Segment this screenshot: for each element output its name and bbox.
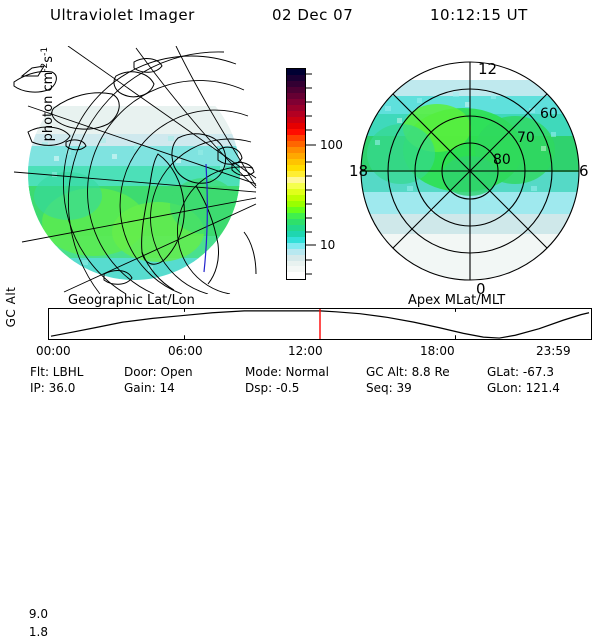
time-axis: 00:00 06:00 12:00 18:00 23:59 [0, 344, 600, 360]
status-ip: IP: 36.0 [30, 381, 75, 395]
mlat-label-80: 80 [493, 152, 511, 168]
apex-panel-caption: Apex MLat/MLT [408, 293, 505, 308]
time-label-1200: 12:00 [288, 344, 323, 358]
mlt-label-6: 6 [579, 162, 589, 180]
status-gc-alt: GC Alt: 8.8 Re [366, 365, 450, 379]
mlt-spokes [361, 62, 579, 280]
colorbar-label-exp2: -1 [40, 47, 50, 56]
altitude-tick-low: 1.8 [29, 625, 48, 639]
mlt-label-18: 18 [349, 162, 368, 180]
colorbar-axis-label: photon cm-2s-1 [40, 6, 56, 182]
colorbar-label-mid: s [41, 56, 56, 63]
time-label-0600: 06:00 [168, 344, 203, 358]
status-mode: Mode: Normal [245, 365, 329, 379]
observation-time: 10:12:15 UT [430, 6, 528, 24]
mlat-label-70: 70 [517, 130, 535, 146]
mlat-label-60: 60 [540, 106, 558, 122]
aurora-emission-geographic [28, 68, 240, 282]
altitude-tick-high: 9.0 [29, 607, 48, 621]
intensity-colorbar[interactable] [286, 68, 306, 280]
status-glat: GLat: -67.3 [487, 365, 554, 379]
status-door: Door: Open [124, 365, 193, 379]
colorbar-label-main: photon cm [41, 72, 56, 142]
geographic-panel-caption: Geographic Lat/Lon [68, 293, 195, 308]
status-filter: Flt: LBHL [30, 365, 83, 379]
colorbar-band-34 [287, 272, 305, 278]
colorbar-tick-label-100: 100 [320, 138, 343, 152]
apex-mlt-dial-panel[interactable]: 12 6 0 18 60 70 80 [345, 46, 595, 296]
status-panel: Flt: LBHL Door: Open Mode: Normal GC Alt… [0, 365, 600, 397]
orbit-altitude-plot[interactable] [48, 308, 592, 340]
status-gain: Gain: 14 [124, 381, 175, 395]
time-label-2359: 23:59 [536, 344, 571, 358]
instrument-title: Ultraviolet Imager [50, 6, 195, 24]
colorbar-label-exp1: -2 [40, 63, 50, 72]
colorbar-minor-ticks [306, 74, 316, 274]
header: Ultraviolet Imager 02 Dec 07 10:12:15 UT [0, 6, 600, 30]
time-label-0000: 00:00 [36, 344, 71, 358]
observation-date: 02 Dec 07 [272, 6, 353, 24]
altitude-tick-labels: 9.0 1.8 [0, 300, 48, 342]
uvi-display: Ultraviolet Imager 02 Dec 07 10:12:15 UT [0, 0, 600, 400]
mlt-label-12: 12 [478, 60, 497, 78]
status-seq: Seq: 39 [366, 381, 412, 395]
status-glon: GLon: 121.4 [487, 381, 560, 395]
status-dsp: Dsp: -0.5 [245, 381, 299, 395]
time-label-1800: 18:00 [420, 344, 455, 358]
colorbar-tick-label-10: 10 [320, 238, 335, 252]
